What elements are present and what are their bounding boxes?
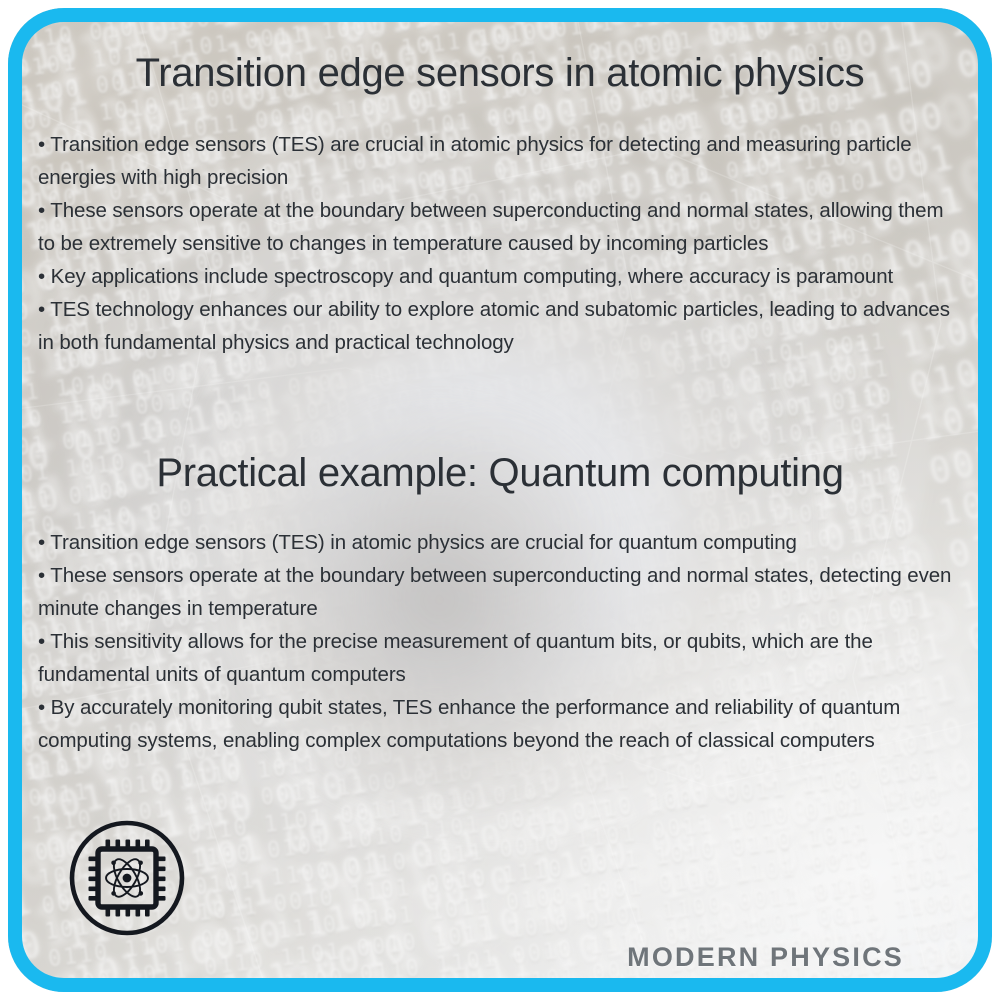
infographic-slide: 1001 0110 1101 0010 1110 0101 1011 0100 … — [0, 0, 1000, 1000]
bullet-item: • This sensitivity allows for the precis… — [38, 625, 954, 691]
bullet-item: • Transition edge sensors (TES) in atomi… — [38, 526, 954, 559]
section-2-bullets: • Transition edge sensors (TES) in atomi… — [38, 526, 954, 757]
section-2-heading: Practical example: Quantum computing — [40, 452, 960, 494]
bullet-item: • These sensors operate at the boundary … — [38, 194, 954, 260]
chip-atom-icon — [68, 819, 186, 937]
bullet-item: • By accurately monitoring qubit states,… — [38, 691, 954, 757]
slide-content: Transition edge sensors in atomic physic… — [0, 0, 1000, 1000]
section-1-heading: Transition edge sensors in atomic physic… — [40, 52, 960, 94]
bullet-item: • Transition edge sensors (TES) are cruc… — [38, 128, 954, 194]
watermark-label: MODERN PHYSICS — [627, 942, 904, 973]
microchip-atom-logo — [68, 819, 186, 937]
bullet-item: • TES technology enhances our ability to… — [38, 293, 954, 359]
bullet-item: • These sensors operate at the boundary … — [38, 559, 954, 625]
section-1-bullets: • Transition edge sensors (TES) are cruc… — [38, 128, 954, 359]
bullet-item: • Key applications include spectroscopy … — [38, 260, 954, 293]
